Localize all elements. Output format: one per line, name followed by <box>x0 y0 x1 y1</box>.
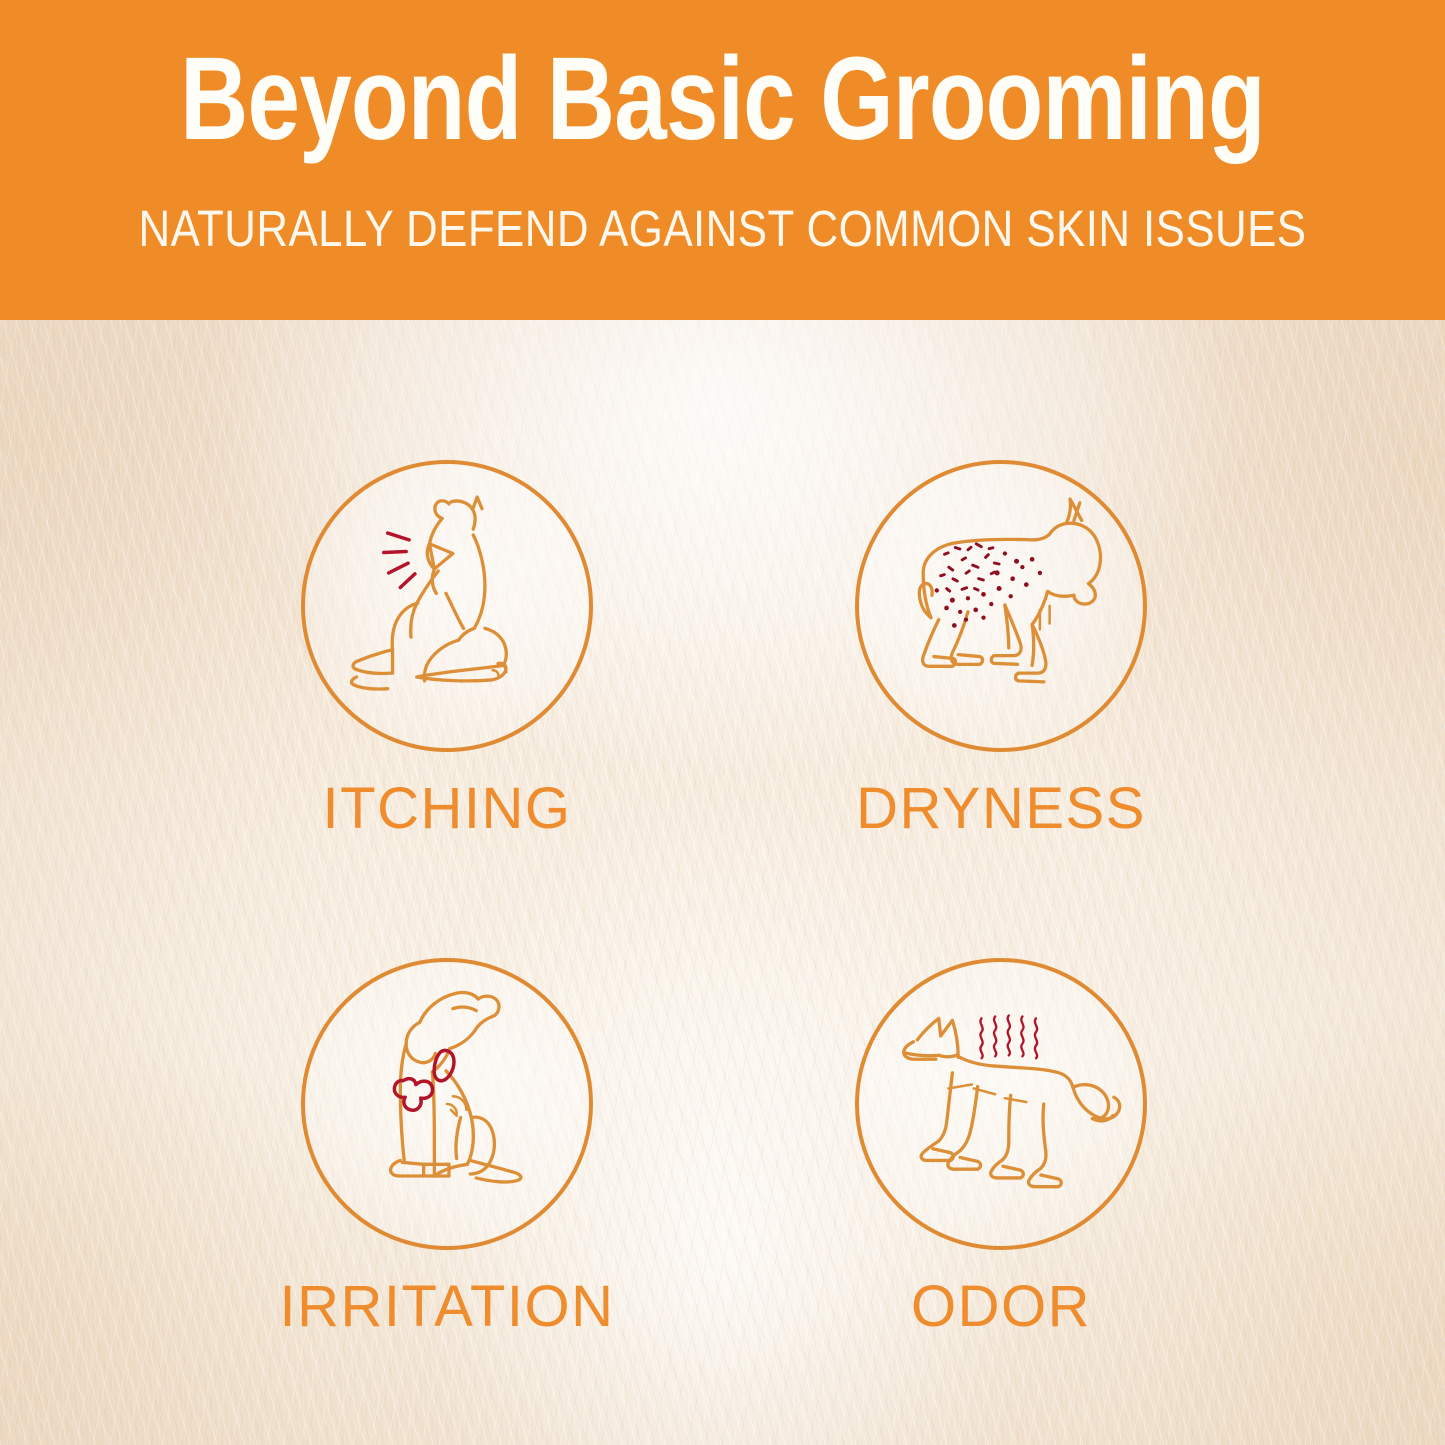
dog-odor-waves-icon <box>855 958 1147 1250</box>
issue-card-odor-waves: ODOR <box>761 958 1241 1338</box>
issue-label-irritation: IRRITATION <box>207 1276 687 1338</box>
header-banner: Beyond Basic Grooming NATURALLY DEFEND A… <box>0 0 1445 320</box>
issue-label-dryness: DRYNESS <box>761 778 1241 840</box>
dog-flaky-skin-icon <box>855 460 1147 752</box>
dog-scratching-icon <box>301 460 593 752</box>
dog-irritated-patches-icon <box>301 958 593 1250</box>
issue-label-itching: ITCHING <box>207 778 687 840</box>
product-infographic: Beyond Basic Grooming NATURALLY DEFEND A… <box>0 0 1445 1445</box>
page-subtitle: NATURALLY DEFEND AGAINST COMMON SKIN ISS… <box>101 200 1344 258</box>
issue-card-itching: ITCHING <box>207 460 687 840</box>
skin-issue-grid: ITCHING <box>0 320 1445 1445</box>
page-title: Beyond Basic Grooming <box>145 38 1301 160</box>
issue-card-dryness: DRYNESS <box>761 460 1241 840</box>
issue-label-odor: ODOR <box>761 1276 1241 1338</box>
issue-card-irritation: IRRITATION <box>207 958 687 1338</box>
